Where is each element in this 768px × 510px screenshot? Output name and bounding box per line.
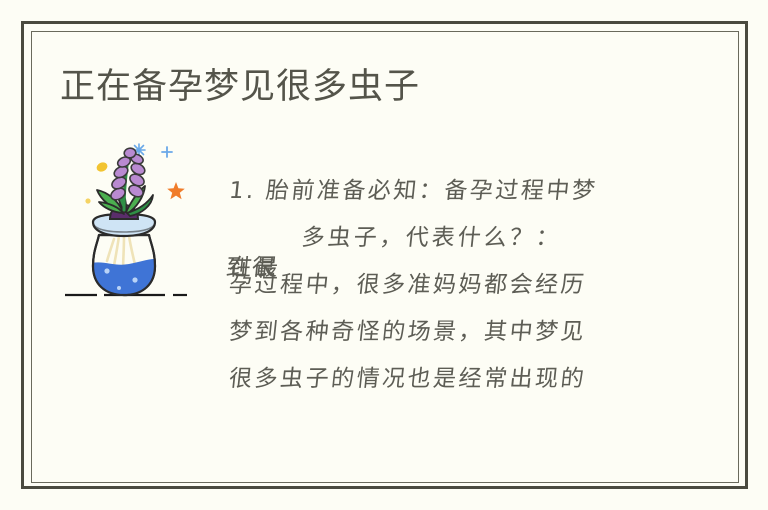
sparkle-orange-star-icon — [167, 182, 185, 199]
page-title: 正在备孕梦见很多虫子 — [60, 64, 420, 110]
article-page: 正在备孕梦见很多虫子 — [0, 0, 768, 510]
sparkle-yellow-dot-icon — [95, 161, 109, 174]
article-body: 1. 胎前准备必知：备孕过程中梦 到很 在最 多虫子，代表什么？： 孕过程中，很… — [229, 168, 669, 403]
article-line-2-overlapped: 到很 在最 多虫子，代表什么？： — [227, 215, 672, 262]
article-line-2-rest: 多虫子，代表什么？： — [300, 225, 563, 251]
article-line-1: 1. 胎前准备必知：备孕过程中梦 — [227, 168, 672, 215]
article-line-5: 很多虫子的情况也是经常出现的 — [227, 356, 672, 403]
glass-jar — [87, 235, 161, 300]
flower-petals — [109, 147, 147, 202]
article-line-4: 梦到各种奇怪的场景，其中梦见 — [227, 309, 672, 356]
article-line-3: 孕过程中，很多准妈妈都会经历 — [227, 262, 672, 309]
sparkle-blue-plus-icon — [162, 147, 172, 157]
illustration-hyacinth-jar — [57, 140, 217, 310]
sparkle-yellow-small-icon — [85, 198, 90, 203]
